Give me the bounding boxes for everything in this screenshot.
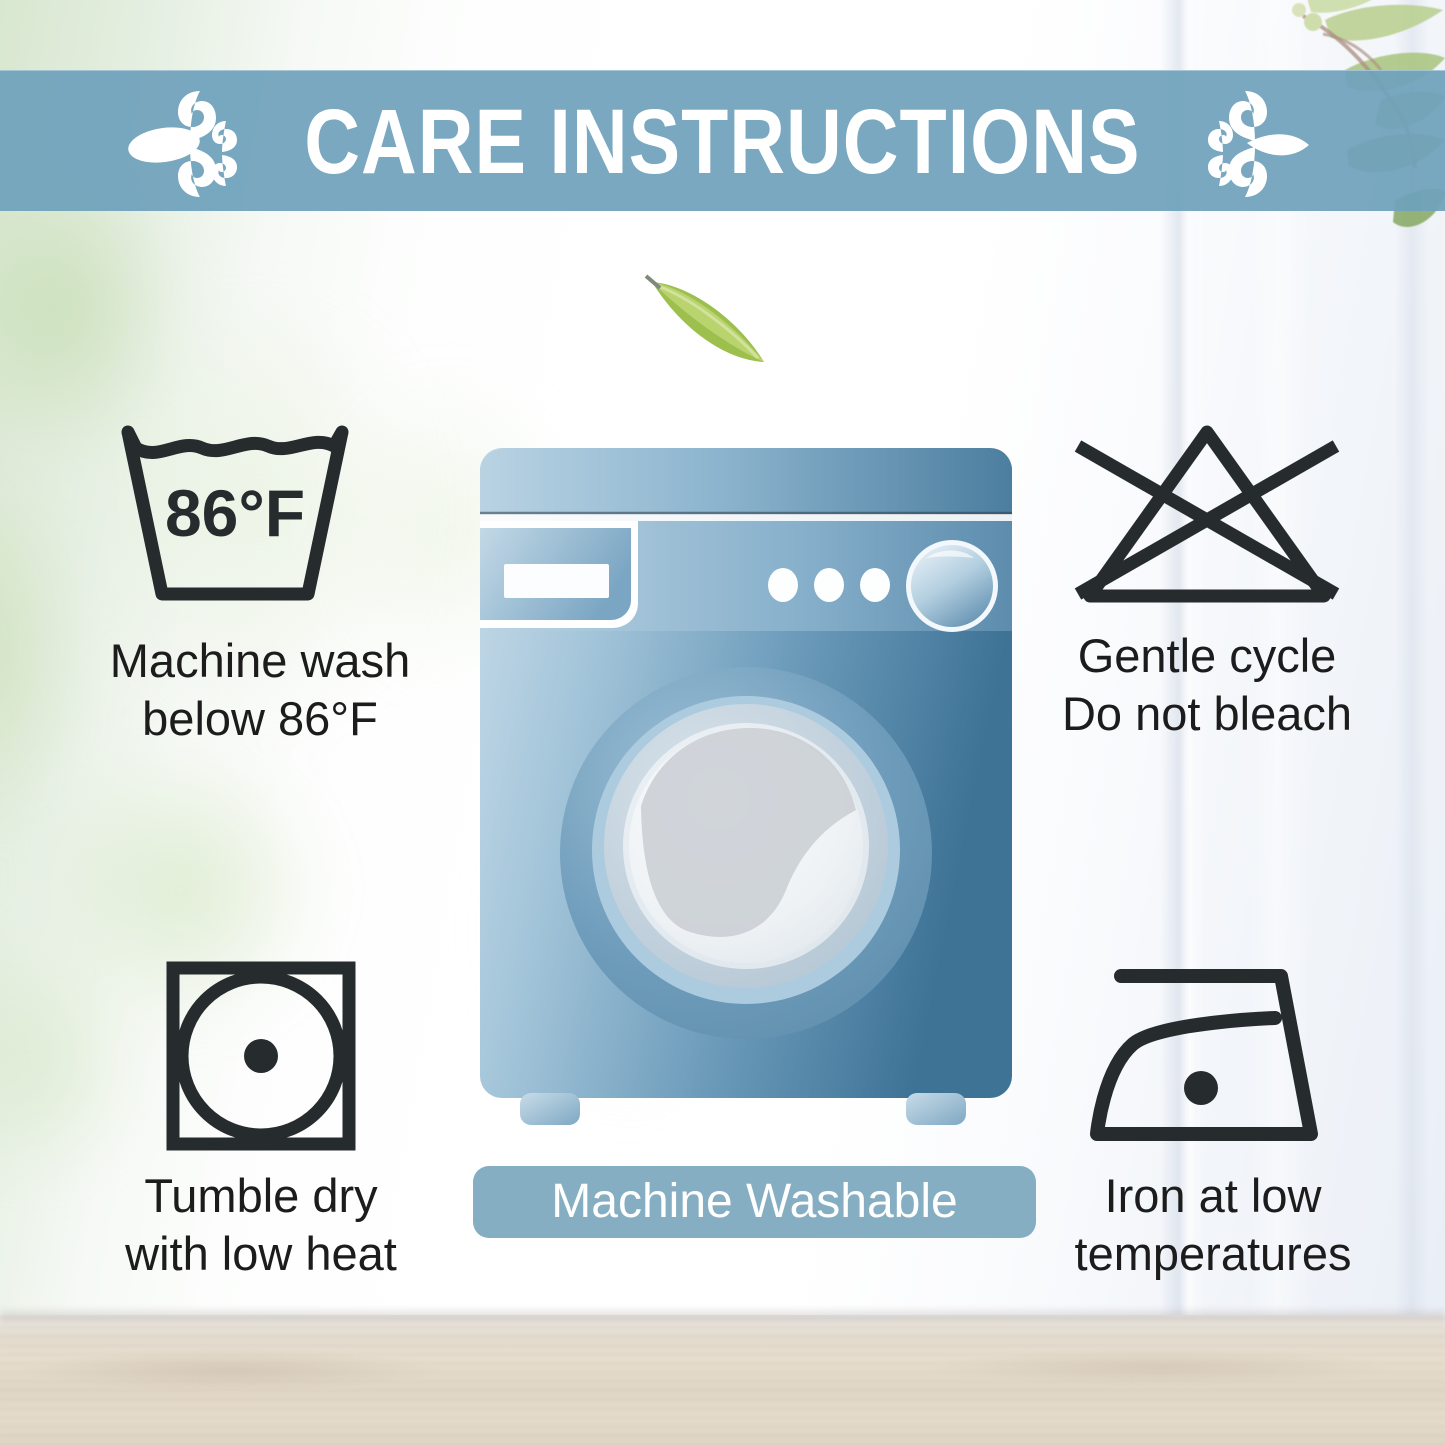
care-caption-do-not-bleach: Gentle cycle Do not bleach [987,627,1427,744]
fleur-de-lis-icon-right [1189,85,1317,197]
washer-foot-left [520,1093,580,1125]
indicator-light-1 [768,568,798,602]
washer-top-panel [480,448,1012,516]
wooden-surface-edge [0,1307,1445,1325]
control-knob[interactable] [911,545,993,627]
crossed-triangle-icon [1062,418,1352,613]
care-symbol-do-not-bleach: Gentle cycle Do not bleach [987,418,1427,744]
header-banner: CARE INSTRUCTIONS [0,70,1445,211]
care-caption-iron-low: Iron at low temperatures [1003,1167,1423,1284]
care-caption-tumble-dry: Tumble dry with low heat [46,1167,476,1284]
machine-washable-badge-label: Machine Washable [551,1178,957,1226]
page-title: CARE INSTRUCTIONS [261,94,1184,186]
care-symbol-machine-wash: 86°F Machine wash below 86°F [30,418,490,749]
washer-foot-right [906,1093,966,1125]
wooden-surface-grain [0,1315,1445,1445]
washing-machine-illustration [466,438,1026,1138]
fleur-de-lis-icon-left [128,85,256,197]
care-caption-machine-wash: Machine wash below 86°F [30,632,490,749]
care-symbol-tumble-dry: Tumble dry with low heat [46,958,476,1284]
tumble-dry-low-icon [161,958,361,1153]
wash-tub-icon: 86°F [110,418,410,618]
indicator-light-3 [860,568,890,602]
wash-temperature-value: 86°F [165,476,305,550]
iron-low-icon [1083,958,1343,1153]
care-symbol-iron-low: Iron at low temperatures [1003,958,1423,1284]
indicator-light-2 [814,568,844,602]
machine-washable-badge: Machine Washable [473,1166,1036,1238]
detergent-drawer-handle [504,564,609,598]
leaf-icon [640,268,780,378]
